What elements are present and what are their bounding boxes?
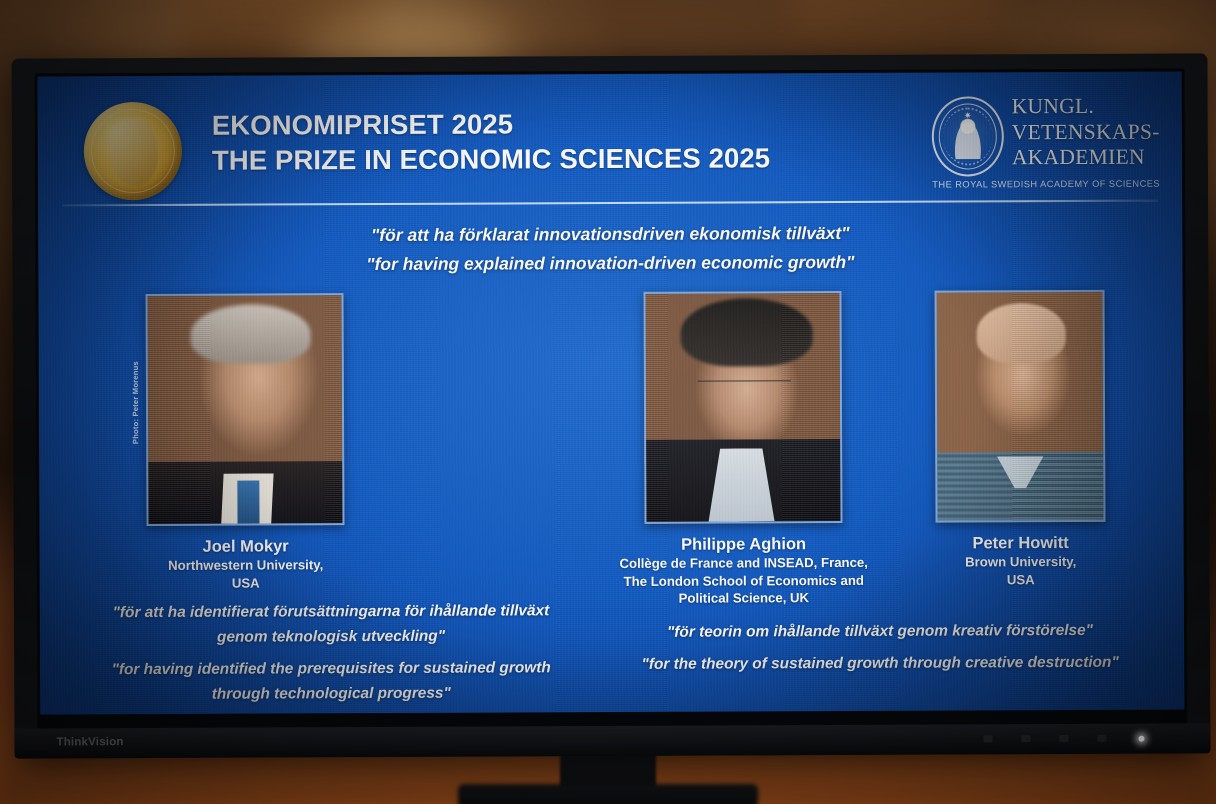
- royal-academy-logo: ✷ KUNGL. VETENSKAPS- AKADEMIEN THE ROYAL…: [932, 94, 1164, 193]
- citation-left: "för att ha identifierat förutsättningar…: [66, 598, 596, 707]
- portrait-head: [976, 303, 1066, 363]
- slide-header: EKONOMIPRISET 2025 THE PRIZE IN ECONOMIC…: [38, 72, 1183, 207]
- laureate-affiliation-line: The London School of Economics and: [594, 571, 894, 590]
- presentation-slide: EKONOMIPRISET 2025 THE PRIZE IN ECONOMIC…: [38, 72, 1185, 715]
- citation-right-english: "for the theory of sustained growth thro…: [600, 650, 1160, 677]
- laureate-card-howitt: Peter Howitt Brown University, USA: [934, 290, 1105, 589]
- laureate-name: Philippe Aghion: [645, 534, 843, 555]
- portrait-glasses: [698, 380, 791, 399]
- photo-credit-mokyr: Photo: Peter Morenus: [131, 361, 140, 444]
- room-scene: EKONOMIPRISET 2025 THE PRIZE IN ECONOMIC…: [0, 0, 1216, 804]
- laureate-name: Peter Howitt: [936, 533, 1106, 554]
- nobel-medal-icon: [84, 102, 182, 200]
- citation-right-swedish: "för teorin om ihållande tillväxt genom …: [600, 618, 1160, 645]
- academy-line-2: VETENSKAPS-: [1012, 119, 1160, 145]
- monitor-stand-base: [458, 784, 758, 804]
- citation-left-swedish-2: genom teknologisk utveckling": [66, 623, 596, 650]
- laureate-affiliation-line: Political Science, UK: [594, 589, 894, 608]
- osd-down-button[interactable]: [1059, 735, 1068, 742]
- osd-up-button[interactable]: [1021, 735, 1030, 742]
- osd-menu-button[interactable]: [983, 735, 992, 742]
- citation-left-english-1: "for having identified the prerequisites…: [66, 655, 596, 682]
- thinkvision-logo: ThinkVision: [56, 736, 123, 748]
- portrait-collar: [997, 456, 1044, 488]
- page-title-english: THE PRIZE IN ECONOMIC SCIENCES 2025: [212, 140, 770, 177]
- portrait-shirt: [708, 448, 774, 521]
- laureate-affiliation-line: USA: [147, 574, 345, 592]
- citation-left-english-2: through technological progress": [66, 680, 596, 707]
- power-led-indicator: [1138, 736, 1144, 742]
- thinkvision-monitor: EKONOMIPRISET 2025 THE PRIZE IN ECONOMIC…: [11, 53, 1210, 758]
- academy-name: KUNGL. VETENSKAPS- AKADEMIEN: [1012, 94, 1160, 171]
- portrait-shirt: [221, 473, 274, 523]
- main-citation: "för att ha förklarat innovationsdriven …: [38, 218, 1182, 281]
- portrait-hair: [190, 304, 311, 364]
- portrait-polo-shirt: [937, 451, 1103, 520]
- seal-figure: [953, 117, 983, 159]
- academy-subtitle: THE ROYAL SWEDISH ACADEMY OF SCIENCES: [932, 179, 1160, 190]
- monitor-bottom-bezel: ThinkVision: [14, 723, 1210, 758]
- laureate-affiliation-line: Collège de France and INSEAD, France,: [594, 554, 894, 573]
- royal-academy-seal-icon: ✷: [932, 96, 1004, 176]
- portrait-jacket: [646, 439, 840, 522]
- laureate-name: Joel Mokyr: [147, 536, 345, 557]
- citation-left-swedish-1: "för att ha identifierat förutsättningar…: [66, 598, 596, 625]
- medal-profile-relief: [109, 118, 158, 187]
- osd-input-button[interactable]: [1097, 735, 1106, 742]
- citation-right: "för teorin om ihållande tillväxt genom …: [600, 618, 1160, 677]
- page-title-swedish: EKONOMIPRISET 2025: [212, 105, 770, 142]
- laureate-photo-mokyr: [146, 293, 345, 526]
- laureate-card-aghion: Philippe Aghion Collège de France and IN…: [644, 291, 843, 607]
- main-citation-english: "for having explained innovation-driven …: [38, 247, 1182, 281]
- monitor-bezel: EKONOMIPRISET 2025 THE PRIZE IN ECONOMIC…: [35, 68, 1188, 728]
- laureate-photo-aghion: [644, 291, 843, 524]
- laureate-photo-howitt: [934, 290, 1105, 523]
- laureates-row: Joel Mokyr Northwestern University, USA …: [39, 290, 1184, 615]
- slide-title-block: EKONOMIPRISET 2025 THE PRIZE IN ECONOMIC…: [212, 105, 771, 177]
- laureate-affiliation-line: USA: [936, 570, 1106, 588]
- portrait-hair: [680, 298, 812, 367]
- portrait-tie: [238, 480, 260, 523]
- laureate-affiliation-line: Brown University,: [936, 553, 1106, 571]
- laureate-card-mokyr: Joel Mokyr Northwestern University, USA: [146, 293, 345, 592]
- academy-line-1: KUNGL.: [1012, 94, 1160, 120]
- portrait-suit: [148, 462, 342, 524]
- academy-line-3: AKADEMIEN: [1012, 145, 1160, 171]
- laureate-affiliation-line: Northwestern University,: [147, 556, 345, 574]
